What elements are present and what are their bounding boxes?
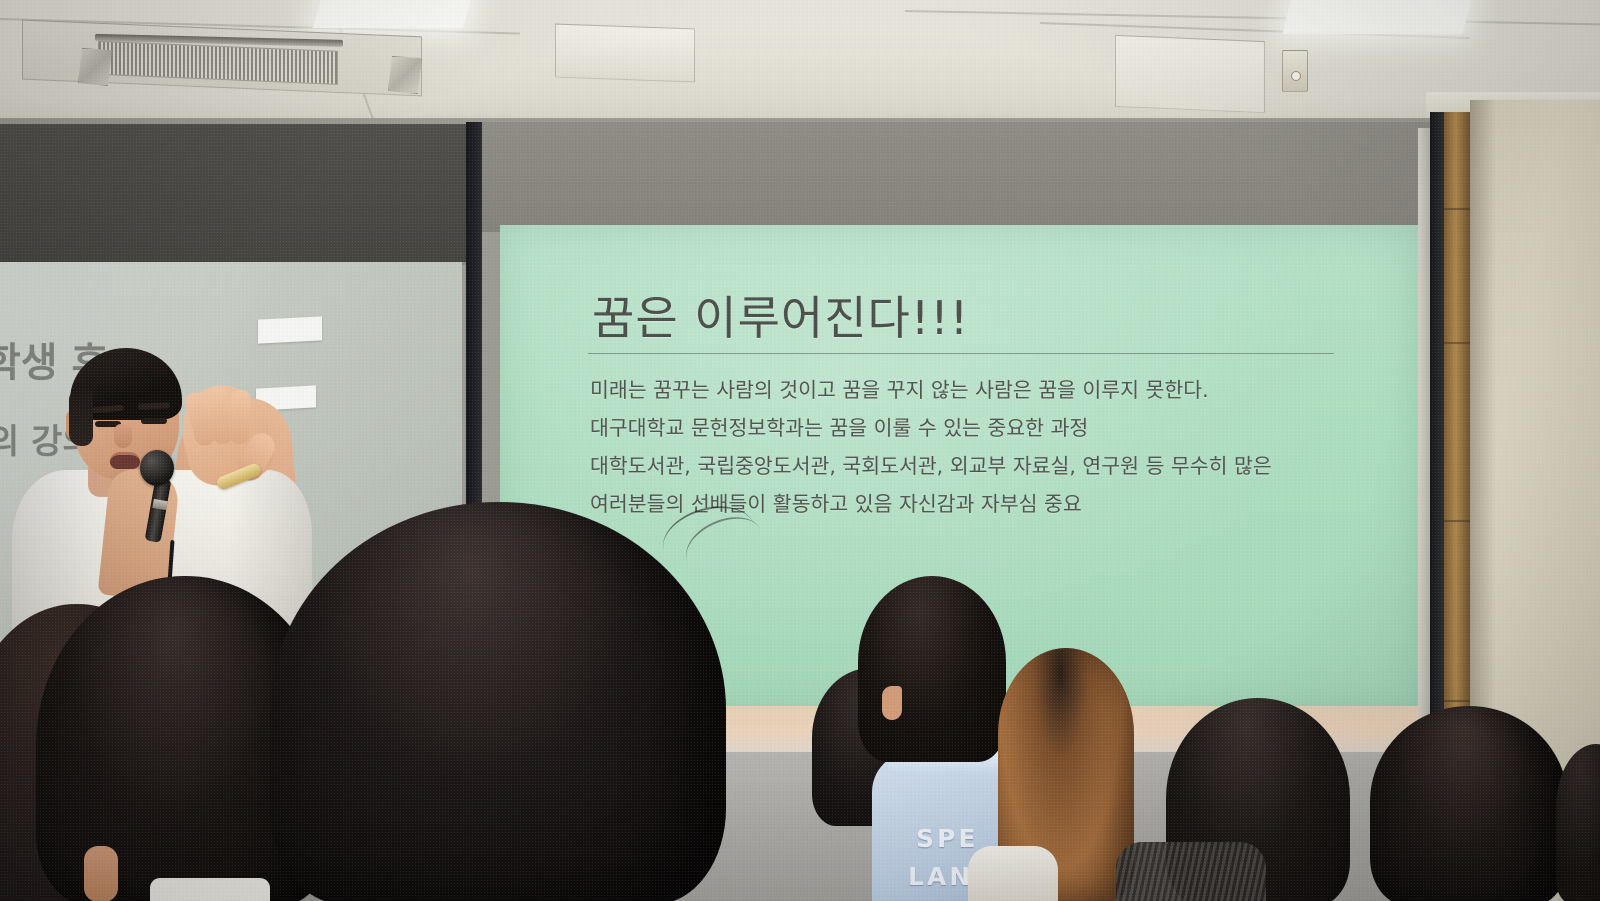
audience-head-center bbox=[270, 502, 726, 901]
presenter-mouth bbox=[110, 452, 140, 469]
slide-divider bbox=[588, 353, 1334, 354]
shirt-text-line-1: SPE bbox=[916, 824, 978, 853]
audience-neck-left bbox=[84, 846, 118, 901]
screen-right-frame bbox=[1418, 128, 1430, 728]
slide-body-line-2: 대구대학교 문헌정보학과는 꿈을 이룰 수 있는 중요한 과정 bbox=[590, 411, 1088, 441]
lecture-photo: 학생 후 의 강의 꿈은 이루어진다!!! 미래는 꿈꾸는 사람의 것이고 꿈을… bbox=[0, 0, 1600, 901]
audience-ear bbox=[882, 686, 902, 720]
audience-head-right-far bbox=[1370, 706, 1568, 901]
ceiling-light-panel bbox=[313, 0, 473, 28]
slide-body-line-3: 대학도서관, 국립중앙도서관, 국회도서관, 외교부 자료실, 연구원 등 무수… bbox=[590, 449, 1272, 479]
microphone-head-icon bbox=[140, 450, 174, 486]
presenter-eye bbox=[141, 418, 167, 424]
audience-head-blue-shirt bbox=[858, 576, 1006, 762]
ceiling-tile bbox=[555, 24, 695, 83]
sticky-note bbox=[258, 316, 322, 343]
column-seam bbox=[1444, 700, 1470, 702]
presenter-hair-side bbox=[69, 388, 93, 446]
hair bbox=[858, 576, 1006, 762]
air-diffuser-icon bbox=[78, 48, 112, 86]
hair bbox=[1556, 744, 1600, 901]
ceiling-light-panel bbox=[1283, 0, 1474, 34]
presenter-finger bbox=[229, 390, 251, 445]
air-diffuser-icon bbox=[388, 56, 422, 94]
wall-header-band bbox=[0, 124, 470, 264]
slide-body-line-1: 미래는 꿈꾸는 사람의 것이고 꿈을 꾸지 않는 사람은 꿈을 이루지 못한다. bbox=[590, 373, 1209, 403]
slide-title: 꿈은 이루어진다!!! bbox=[592, 282, 969, 348]
audience-head-right-edge bbox=[1556, 744, 1600, 901]
sprinkler-head-icon bbox=[1282, 50, 1308, 92]
ceiling-diffuser-panel bbox=[1115, 35, 1265, 113]
column-seam bbox=[1444, 208, 1470, 210]
audience-collar-left bbox=[150, 878, 270, 901]
audience-shoulder-light bbox=[968, 846, 1058, 901]
hair bbox=[270, 502, 726, 901]
ac-grille bbox=[98, 41, 338, 85]
column-seam bbox=[1444, 342, 1470, 344]
audience-textured-shoulder bbox=[1116, 842, 1266, 901]
wall-above-screen bbox=[482, 122, 1430, 232]
presenter-nose bbox=[114, 424, 132, 448]
hair bbox=[1370, 706, 1568, 901]
column-seam bbox=[1444, 520, 1470, 522]
